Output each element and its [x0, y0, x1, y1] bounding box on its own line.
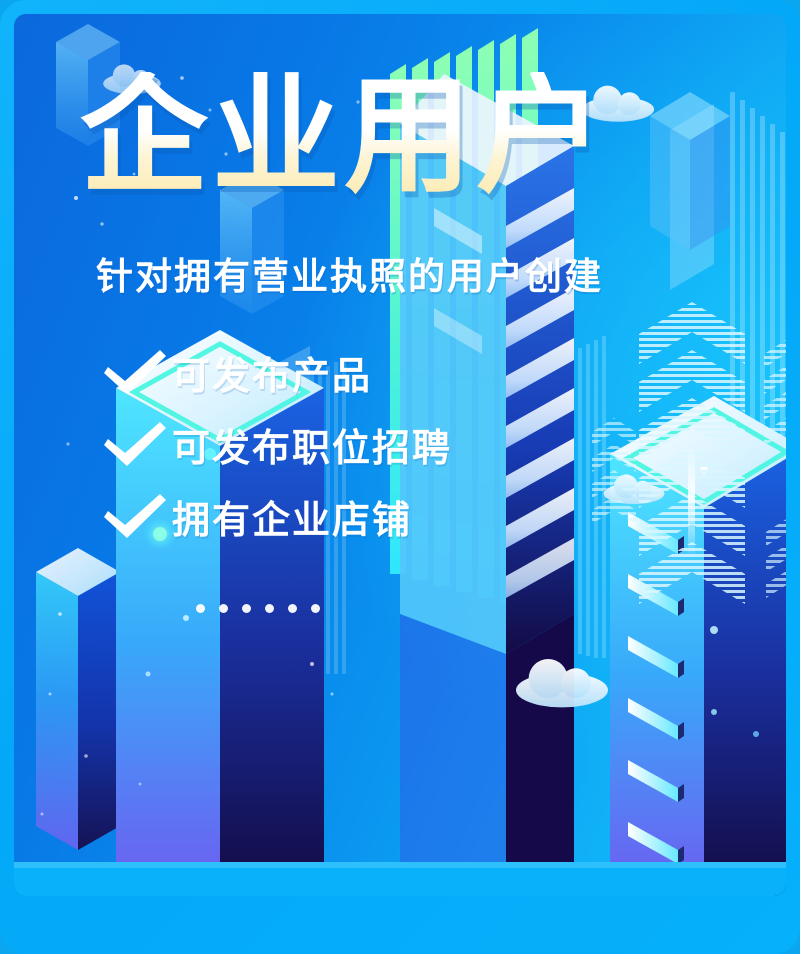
list-item: 可发布职位招聘 [98, 408, 452, 480]
list-item-label: 可发布产品 [172, 345, 372, 400]
chevron-stack-large [639, 302, 745, 604]
check-icon [98, 345, 172, 399]
list-item-label: 拥有企业店铺 [172, 489, 412, 544]
promo-inner-panel: 企业用户 针对拥有营业执照的用户创建 可发布产品 可发布职位招聘 拥有企业店铺 [14, 14, 786, 896]
check-icon [98, 489, 172, 543]
list-item: 拥有企业店铺 [98, 480, 452, 552]
chevron-stack-small-left [592, 418, 636, 524]
check-icon [98, 417, 172, 471]
enterprise-user-promo-card: 企业用户 针对拥有营业执照的用户创建 可发布产品 可发布职位招聘 拥有企业店铺 [0, 0, 800, 954]
dot [242, 604, 251, 613]
dot [311, 604, 320, 613]
feature-list: 可发布产品 可发布职位招聘 拥有企业店铺 [98, 336, 452, 552]
chevron-stack-small-right [764, 340, 786, 446]
dot [219, 604, 228, 613]
list-item-label: 可发布职位招聘 [172, 417, 452, 472]
dot [288, 604, 297, 613]
page-subtitle: 针对拥有营业执照的用户创建 [96, 246, 603, 300]
chevron-stack-small-lower-right [766, 518, 786, 598]
dot [265, 604, 274, 613]
page-title: 企业用户 [80, 72, 608, 203]
dot [196, 604, 205, 613]
list-item: 可发布产品 [98, 336, 452, 408]
ellipsis-dots [196, 604, 320, 613]
